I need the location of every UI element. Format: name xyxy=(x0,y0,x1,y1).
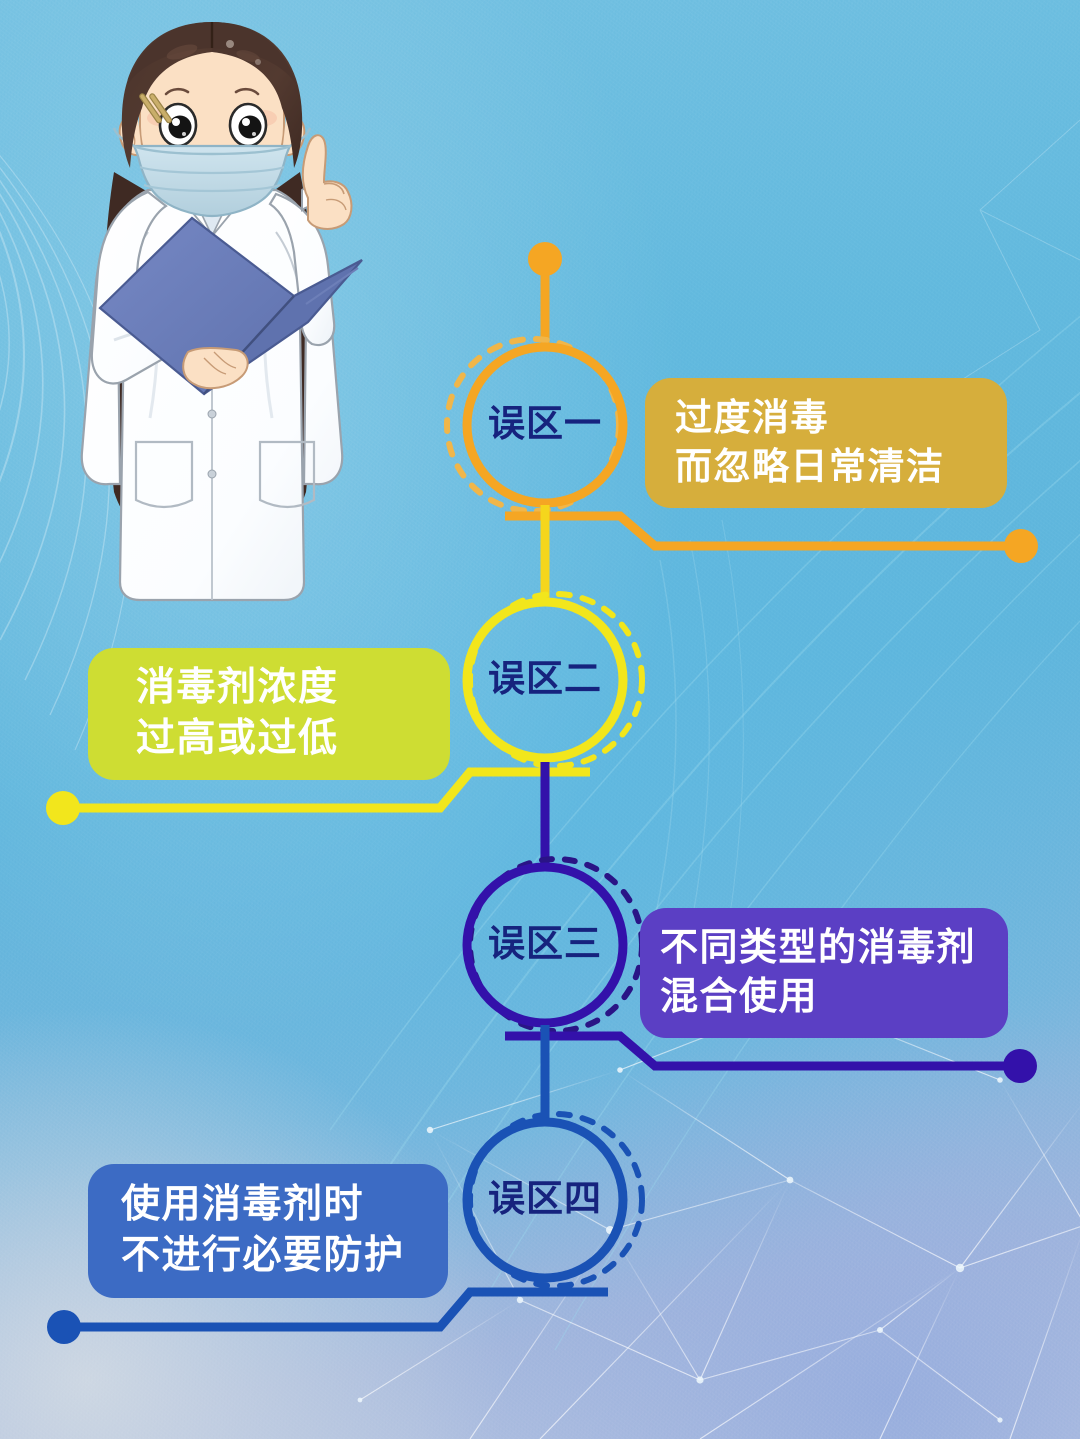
node-4-end-dot xyxy=(47,1310,81,1344)
node-2-label: 误区二 xyxy=(460,660,630,697)
node-3-label: 误区三 xyxy=(460,925,630,962)
node-2-callout: 消毒剂浓度 过高或过低 xyxy=(88,648,450,780)
node-1-callout-line-2: 而忽略日常清洁 xyxy=(675,443,1007,492)
node-4-label: 误区四 xyxy=(460,1180,630,1217)
node-1-connector xyxy=(505,516,1010,546)
node-3-connector xyxy=(505,1036,1009,1066)
node-3-callout-line-2: 混合使用 xyxy=(660,973,1008,1022)
node-3-end-dot xyxy=(1003,1049,1037,1083)
node-2-end-dot xyxy=(46,791,80,825)
node-4-callout-line-1: 使用消毒剂时 xyxy=(121,1180,448,1231)
node-3-callout-line-1: 不同类型的消毒剂 xyxy=(660,924,1008,973)
node-4-callout-line-2: 不进行必要防护 xyxy=(121,1231,448,1282)
node-1-callout: 过度消毒 而忽略日常清洁 xyxy=(645,378,1007,508)
node-1-label: 误区一 xyxy=(460,405,630,442)
node-1-end-dot xyxy=(1004,529,1038,563)
timeline-start-dot xyxy=(528,242,562,276)
node-4-callout: 使用消毒剂时 不进行必要防护 xyxy=(88,1164,448,1298)
infographic-canvas: 误区一 误区二 误区三 误区四 过度消毒 而忽略日常清洁 消毒剂浓度 过高或过低… xyxy=(0,0,1080,1439)
node-1-callout-line-1: 过度消毒 xyxy=(675,394,1007,443)
node-3-callout: 不同类型的消毒剂 混合使用 xyxy=(640,908,1008,1038)
node-2-callout-line-2: 过高或过低 xyxy=(136,714,450,765)
node-2-callout-line-1: 消毒剂浓度 xyxy=(136,663,450,714)
